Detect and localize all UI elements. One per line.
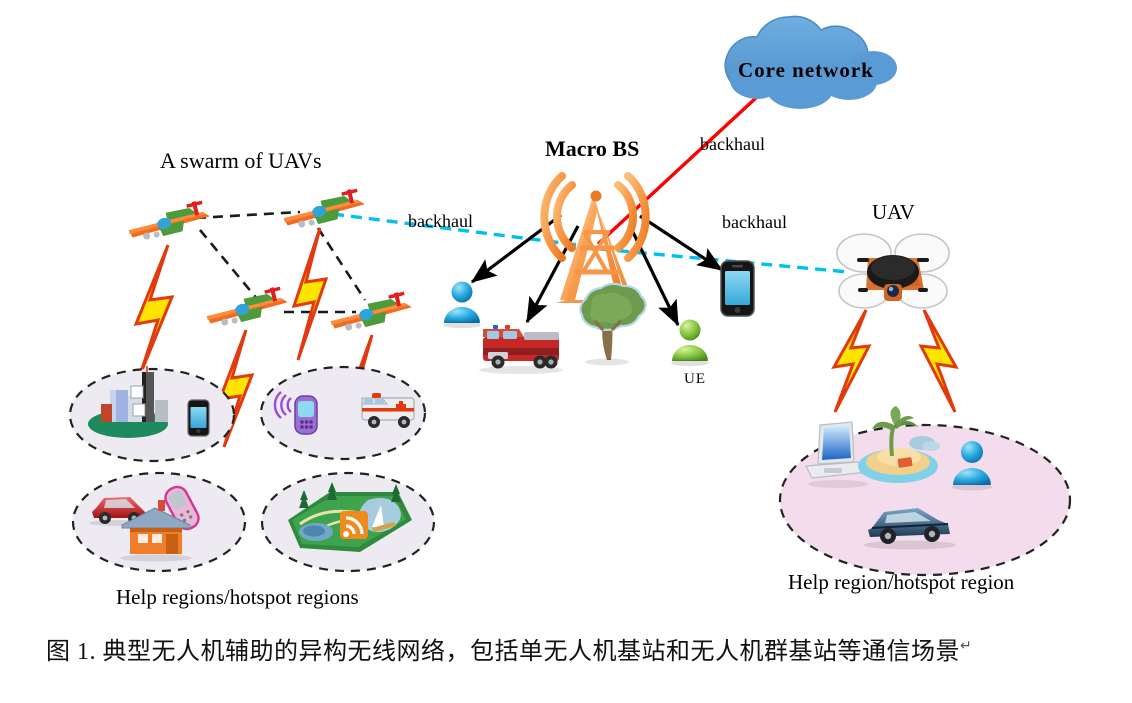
inter-uav-links <box>196 212 365 312</box>
figure-caption-mark: ↵ <box>960 639 972 654</box>
backhaul-label-right: backhaul <box>722 212 787 233</box>
figure-canvas: Core network Macro BS A swarm of UAVs UA… <box>0 0 1132 703</box>
user-blue-icon <box>443 282 481 329</box>
macro-bs-label: Macro BS <box>545 136 639 162</box>
figure-caption: 图 1. 典型无人机辅助的异构无线网络，包括单无人机基站和无人机群基站等通信场景… <box>46 631 972 666</box>
smartphone-icon <box>721 261 754 316</box>
figure-caption-text: 图 1. 典型无人机辅助的异构无线网络，包括单无人机基站和无人机群基站等通信场景 <box>46 639 960 665</box>
backhaul-label-top: backhaul <box>700 134 765 155</box>
user-green-icon <box>671 320 709 367</box>
help-region-right-label: Help region/hotspot region <box>788 570 1014 595</box>
single-uav-quadcopter <box>837 234 949 308</box>
uav-label: UAV <box>872 200 915 225</box>
swarm-of-uavs-label: A swarm of UAVs <box>160 148 322 174</box>
smartphone-icon <box>188 400 209 436</box>
core-network-label: Core network <box>738 58 874 83</box>
lightning-bolts-right <box>834 310 956 412</box>
backhaul-label-left: backhaul <box>408 211 473 232</box>
ue-label: UE <box>684 371 706 388</box>
uav-swarm-planes <box>126 187 414 335</box>
tree-icon <box>580 284 645 366</box>
help-regions-left-label: Help regions/hotspot regions <box>116 585 359 610</box>
fire-truck-icon <box>479 325 563 374</box>
